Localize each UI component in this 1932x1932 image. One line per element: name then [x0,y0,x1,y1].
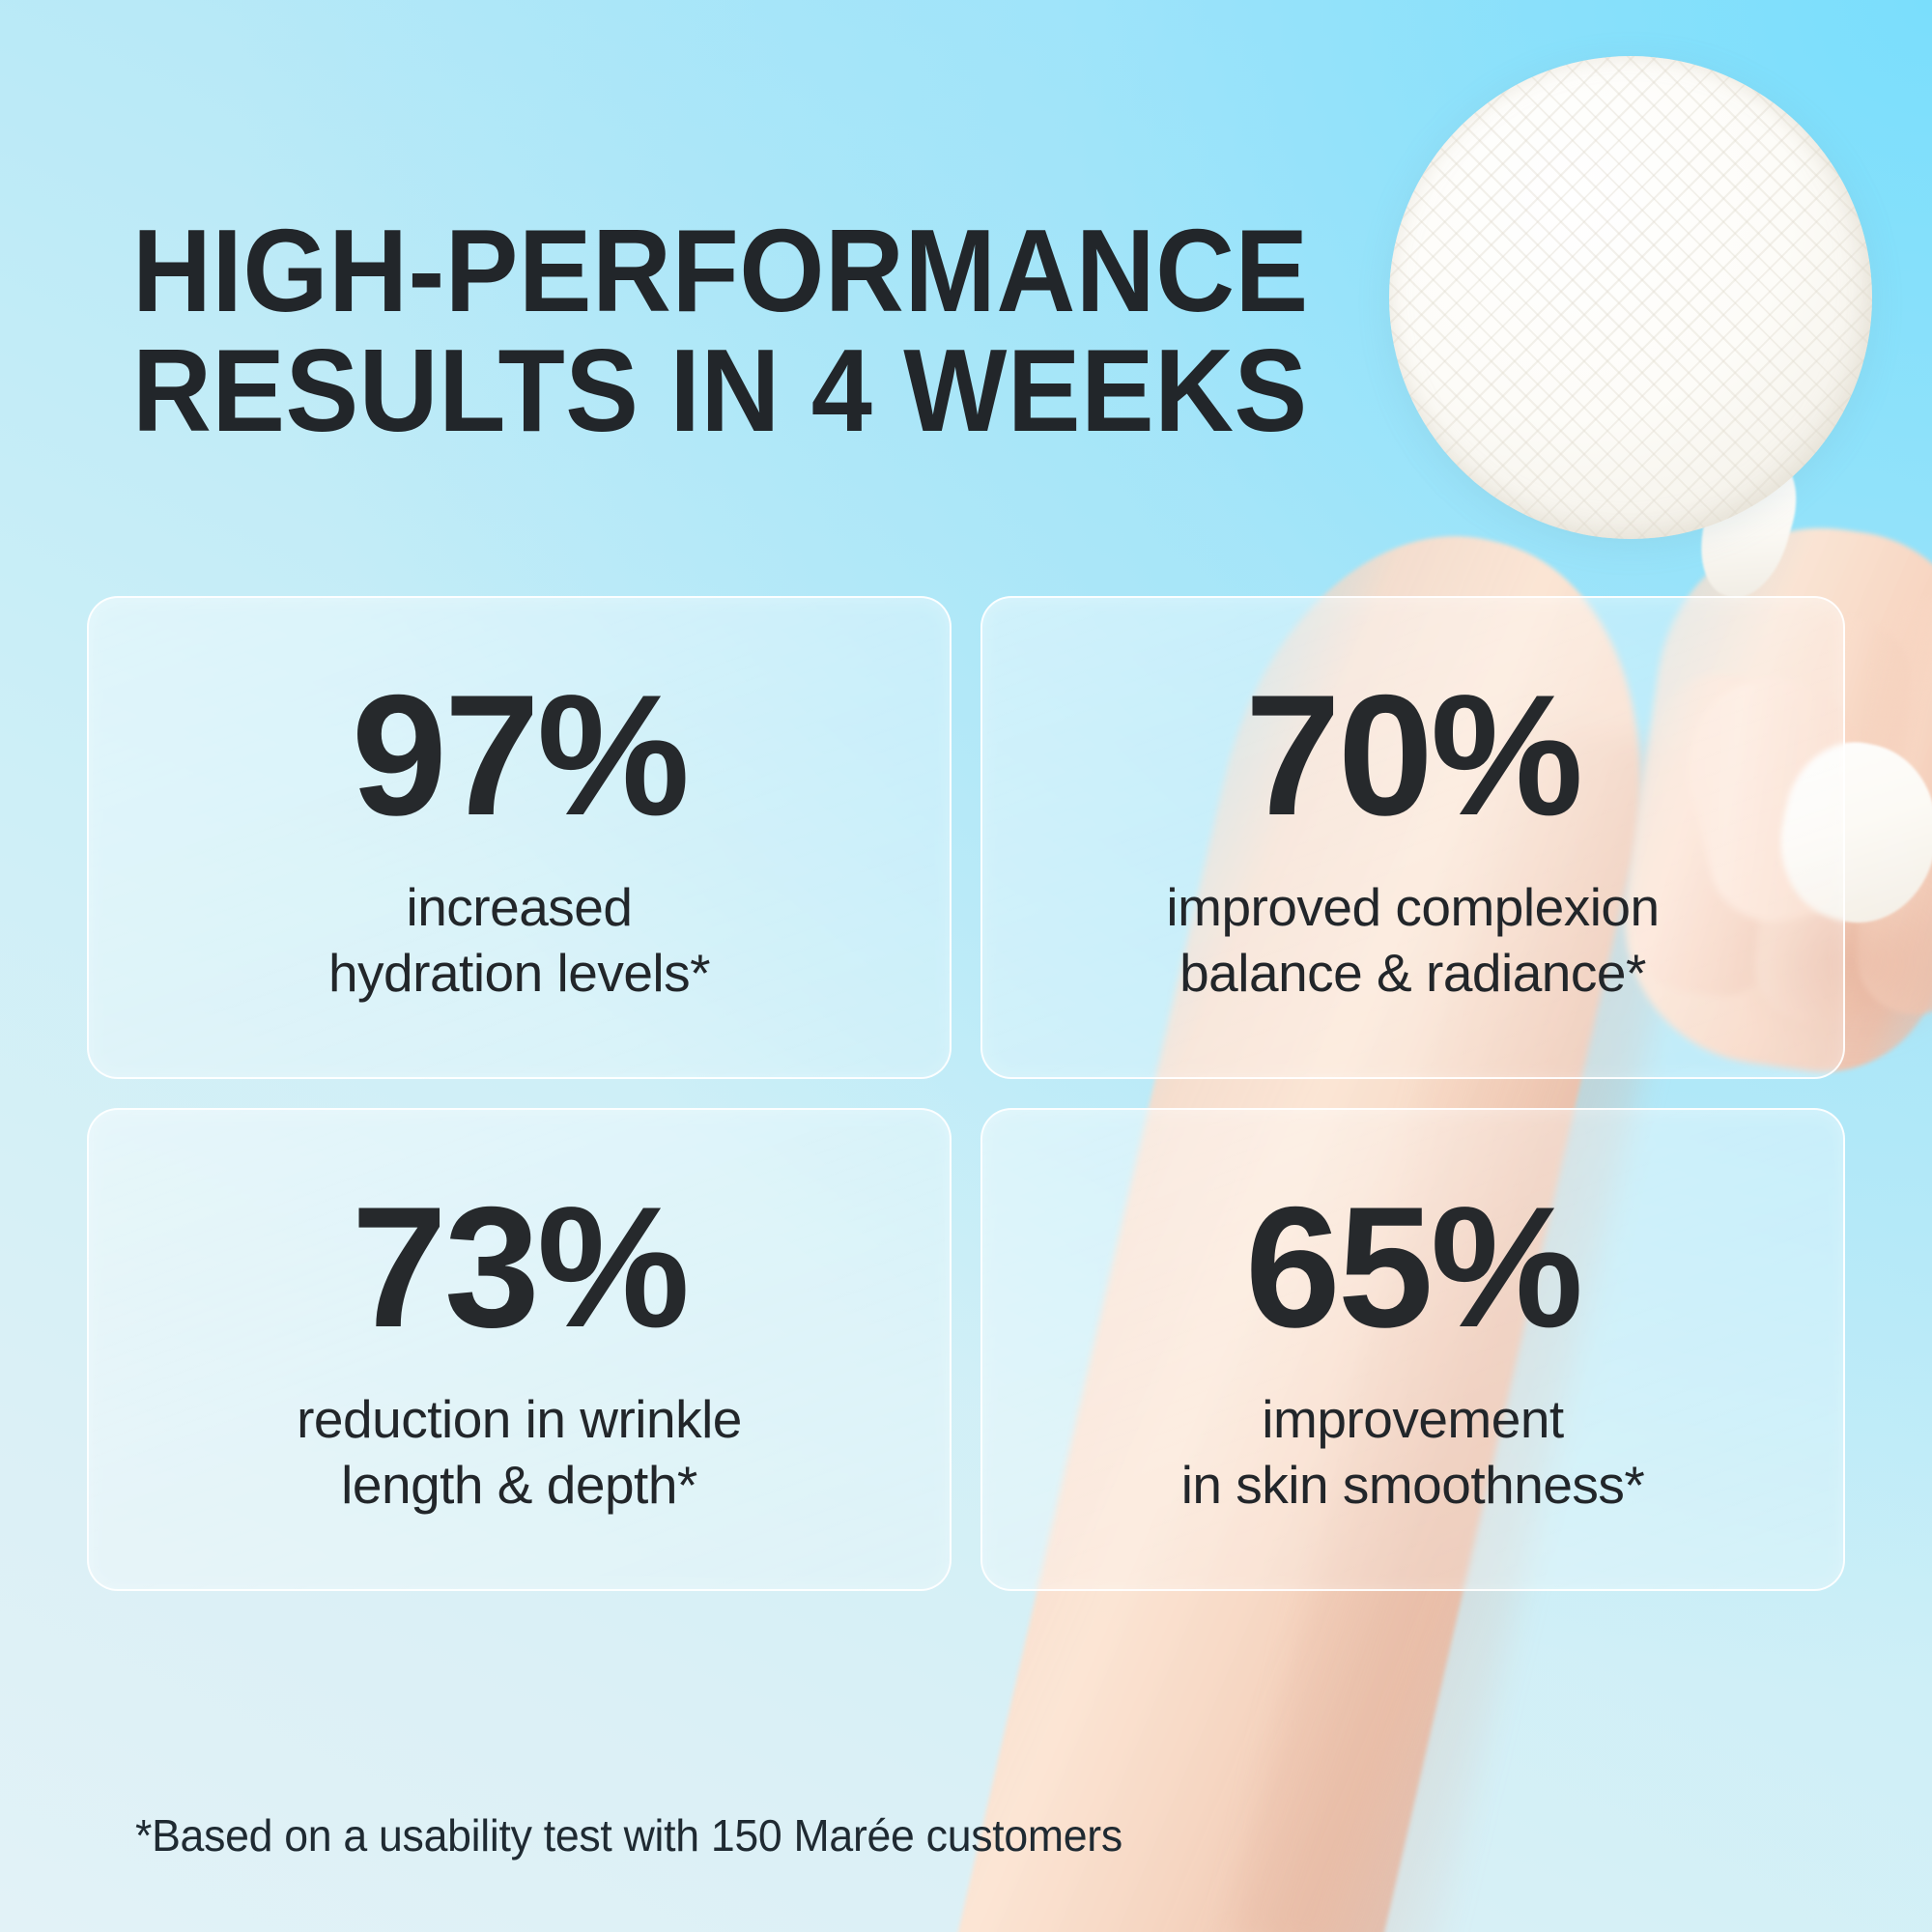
stat-card-wrinkle: 73% reduction in wrinkle length & depth* [87,1108,952,1591]
stat-card-hydration: 97% increased hydration levels* [87,596,952,1079]
page-title: HIGH-PERFORMANCE RESULTS IN 4 WEEKS [132,211,1319,451]
stat-value: 97% [352,669,687,841]
stat-label: increased hydration levels* [328,874,710,1006]
infographic-canvas: HIGH-PERFORMANCE RESULTS IN 4 WEEKS 97% … [0,0,1932,1932]
stat-value: 70% [1245,669,1580,841]
stats-grid: 97% increased hydration levels* 70% impr… [87,596,1845,1591]
stat-value: 73% [352,1181,687,1353]
content-layer: HIGH-PERFORMANCE RESULTS IN 4 WEEKS 97% … [0,0,1932,1932]
stat-label: improvement in skin smoothness* [1181,1386,1645,1518]
stat-card-smoothness: 65% improvement in skin smoothness* [980,1108,1845,1591]
footnote: *Based on a usability test with 150 Maré… [135,1809,1122,1861]
stat-label: reduction in wrinkle length & depth* [297,1386,742,1518]
stat-card-complexion: 70% improved complexion balance & radian… [980,596,1845,1079]
stat-label: improved complexion balance & radiance* [1166,874,1659,1006]
stat-value: 65% [1245,1181,1580,1353]
